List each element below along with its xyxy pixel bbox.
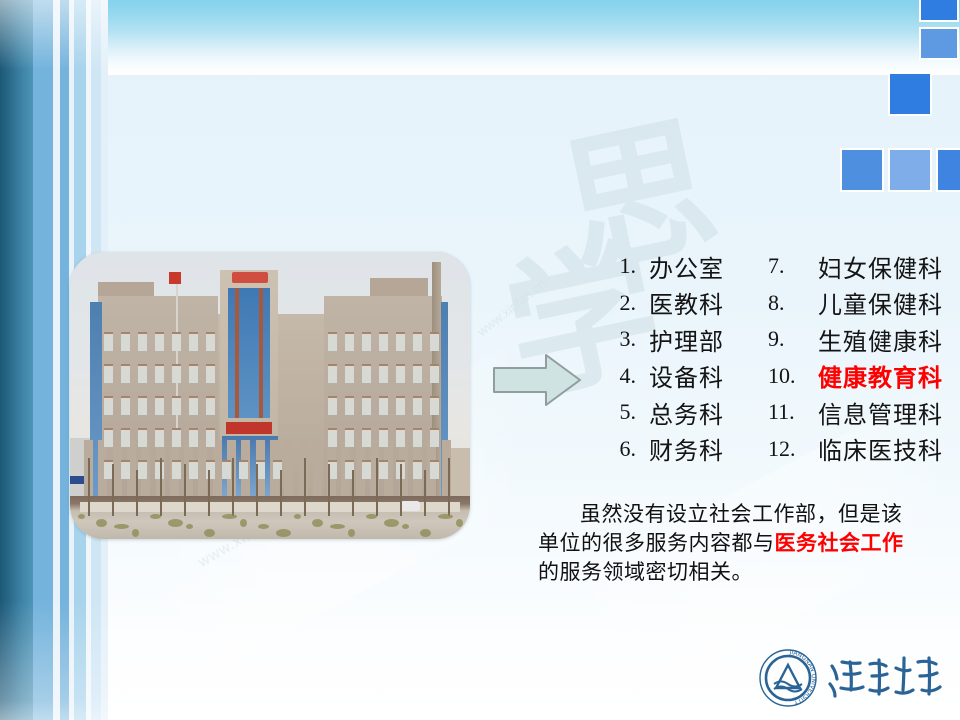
photo-shrub: [312, 519, 323, 527]
photo-window: [328, 364, 337, 383]
photo-sapling: [352, 470, 354, 516]
slide-root: 思 学 www.xinfan.cn www.xinfanwen.cn: [0, 0, 960, 720]
photo-shrub: [78, 514, 85, 519]
photo-window: [362, 364, 371, 383]
photo-shrub: [114, 524, 129, 529]
photo-shrub: [132, 529, 139, 537]
photo-car: [400, 501, 420, 511]
department-label: 医教科: [636, 285, 724, 320]
photo-window: [413, 460, 422, 479]
photo-shrub: [438, 514, 453, 519]
department-number: 11.: [768, 399, 814, 425]
photo-shrub: [330, 524, 345, 529]
photo-window: [413, 364, 422, 383]
department-item: 6.财务科: [596, 431, 724, 468]
photo-window: [379, 428, 388, 447]
department-item: 9.生殖健康科: [768, 321, 943, 358]
photo-window: [379, 332, 388, 351]
photo-window: [430, 460, 439, 479]
photo-window: [172, 332, 181, 351]
department-number: 12.: [768, 436, 814, 462]
department-item: 4.设备科: [596, 358, 724, 395]
photo-tower-pilaster-left: [235, 288, 239, 418]
photo-red-banner: [226, 422, 272, 434]
photo-shrub: [402, 524, 409, 529]
photo-window: [138, 332, 147, 351]
department-label: 办公室: [636, 249, 724, 284]
photo-shrub: [204, 529, 215, 537]
photo-window: [155, 332, 164, 351]
photo-window: [345, 332, 354, 351]
department-item: 5.总务科: [596, 394, 724, 431]
photo-shrub: [294, 514, 301, 519]
photo-window: [239, 460, 248, 479]
photo-window: [189, 460, 198, 479]
department-column-right: 7.妇女保健科8.儿童保健科9.生殖健康科10.健康教育科11.信息管理科12.…: [768, 248, 943, 467]
photo-shrub: [276, 529, 291, 537]
department-number: 6.: [596, 436, 636, 462]
top-banner: [0, 0, 960, 74]
photo-shrub: [168, 519, 183, 527]
photo-window: [121, 428, 130, 447]
department-number: 1.: [596, 253, 636, 279]
department-number: 9.: [768, 326, 814, 352]
photo-roof-sign: [232, 272, 268, 283]
department-column-left: 1.办公室2.医教科3.护理部4.设备科5.总务科6.财务科: [596, 248, 724, 467]
photo-shrub: [258, 524, 269, 529]
photo-sapling: [280, 470, 282, 516]
photo-window: [138, 460, 147, 479]
department-item: 1.办公室: [596, 248, 724, 285]
department-number: 3.: [596, 326, 636, 352]
photo-window: [396, 332, 405, 351]
department-item: 12.临床医技科: [768, 431, 943, 468]
photo-window: [138, 428, 147, 447]
photo-window: [206, 396, 215, 415]
university-wordmark: [826, 650, 948, 706]
photo-window: [189, 332, 198, 351]
photo-shrub: [348, 529, 355, 537]
photo-window: [396, 364, 405, 383]
photo-shrub: [222, 514, 237, 519]
photo-window: [379, 364, 388, 383]
photo-shrub: [456, 519, 463, 527]
university-emblem-icon: JIANGNAN UNIVERSITY: [758, 648, 818, 708]
photo-window: [396, 428, 405, 447]
photo-window: [172, 428, 181, 447]
photo-window: [379, 396, 388, 415]
department-number: 2.: [596, 290, 636, 316]
photo-window: [413, 396, 422, 415]
photo-sapling: [328, 464, 330, 516]
department-label: 健康教育科: [814, 358, 943, 393]
department-number: 7.: [768, 253, 814, 279]
photo-window: [328, 428, 337, 447]
square-mid-1: [888, 72, 932, 116]
watermark-url: www.xinfan.cn: [474, 276, 549, 339]
photo-column: [284, 440, 293, 498]
department-label: 妇女保健科: [814, 249, 943, 284]
photo-window: [413, 428, 422, 447]
department-item: 10.健康教育科: [768, 358, 943, 395]
department-label: 信息管理科: [814, 395, 943, 430]
department-label: 儿童保健科: [814, 285, 943, 320]
square-top-right-2: [919, 27, 959, 60]
photo-window: [328, 332, 337, 351]
photo-shrub: [420, 529, 431, 537]
department-label: 生殖健康科: [814, 322, 943, 357]
department-item: 2.医教科: [596, 285, 724, 322]
photo-window: [379, 460, 388, 479]
photo-window: [362, 332, 371, 351]
square-row-2: [888, 148, 932, 192]
photo-window: [121, 460, 130, 479]
department-number: 10.: [768, 363, 814, 389]
photo-sapling: [256, 464, 258, 516]
photo-window: [104, 332, 113, 351]
photo-window: [362, 428, 371, 447]
photo-window: [104, 364, 113, 383]
photo-sapling: [184, 464, 186, 516]
photo-window: [138, 364, 147, 383]
department-item: 8.儿童保健科: [768, 285, 943, 322]
photo-shrub: [366, 514, 377, 519]
photo-window: [345, 364, 354, 383]
photo-window: [155, 428, 164, 447]
square-row-3: [936, 148, 960, 192]
photo-window: [121, 332, 130, 351]
department-number: 5.: [596, 399, 636, 425]
photo-flag: [169, 272, 181, 284]
photo-sapling: [88, 458, 90, 516]
banner-divider: [0, 73, 960, 75]
photo-window: [396, 396, 405, 415]
photo-sapling: [424, 470, 426, 516]
photo-window: [362, 396, 371, 415]
photo-window: [345, 428, 354, 447]
department-item: 7.妇女保健科: [768, 248, 943, 285]
department-label: 设备科: [636, 358, 724, 393]
photo-window: [206, 332, 215, 351]
photo-window: [189, 364, 198, 383]
square-row-1: [840, 148, 884, 192]
paragraph-part-2: 的服务领域密切相关。: [538, 560, 753, 584]
photo-window: [345, 396, 354, 415]
photo-tower-pilaster-right: [259, 288, 263, 418]
photo-sapling: [112, 464, 114, 516]
photo-window: [138, 396, 147, 415]
department-label: 财务科: [636, 431, 724, 466]
photo-window: [328, 396, 337, 415]
photo-window: [172, 460, 181, 479]
photo-sapling: [376, 458, 378, 516]
jiangnan-university-logo: JIANGNAN UNIVERSITY: [758, 648, 948, 710]
department-number: 4.: [596, 363, 636, 389]
photo-window: [206, 428, 215, 447]
photo-window: [172, 396, 181, 415]
photo-sapling: [160, 458, 162, 516]
department-item: 3.护理部: [596, 321, 724, 358]
photo-sapling: [448, 458, 450, 516]
photo-sapling: [208, 470, 210, 516]
photo-sapling: [400, 464, 402, 516]
photo-sapling: [232, 458, 234, 516]
building-photo: [70, 252, 470, 539]
photo-shrub: [96, 519, 107, 527]
photo-shrub: [240, 519, 247, 527]
department-label: 护理部: [636, 322, 724, 357]
photo-window: [104, 428, 113, 447]
photo-window: [155, 396, 164, 415]
photo-window: [206, 364, 215, 383]
photo-sapling: [136, 470, 138, 516]
photo-window: [430, 364, 439, 383]
department-label: 总务科: [636, 395, 724, 430]
photo-window: [189, 396, 198, 415]
photo-window: [155, 364, 164, 383]
photo-column: [313, 440, 322, 498]
department-item: 11.信息管理科: [768, 394, 943, 431]
photo-window: [413, 332, 422, 351]
photo-window: [430, 396, 439, 415]
photo-window: [172, 364, 181, 383]
photo-window: [121, 364, 130, 383]
department-number: 8.: [768, 290, 814, 316]
photo-window: [222, 460, 231, 479]
photo-column: [299, 440, 308, 498]
photo-shrub: [150, 514, 161, 519]
photo-window: [104, 396, 113, 415]
photo-window: [189, 428, 198, 447]
summary-paragraph: 虽然没有设立社会工作部，但是该单位的很多服务内容都与医务社会工作的服务领域密切相…: [538, 500, 908, 587]
right-arrow: [492, 352, 582, 408]
photo-window: [362, 460, 371, 479]
square-top-right-1: [919, 0, 959, 22]
photo-window: [121, 396, 130, 415]
photo-shrub: [384, 519, 399, 527]
department-label: 临床医技科: [814, 431, 943, 466]
photo-window: [430, 332, 439, 351]
paragraph-emphasis: 医务社会工作: [775, 531, 904, 555]
photo-window: [430, 428, 439, 447]
photo-sapling: [304, 458, 306, 516]
photo-shrub: [186, 524, 193, 529]
